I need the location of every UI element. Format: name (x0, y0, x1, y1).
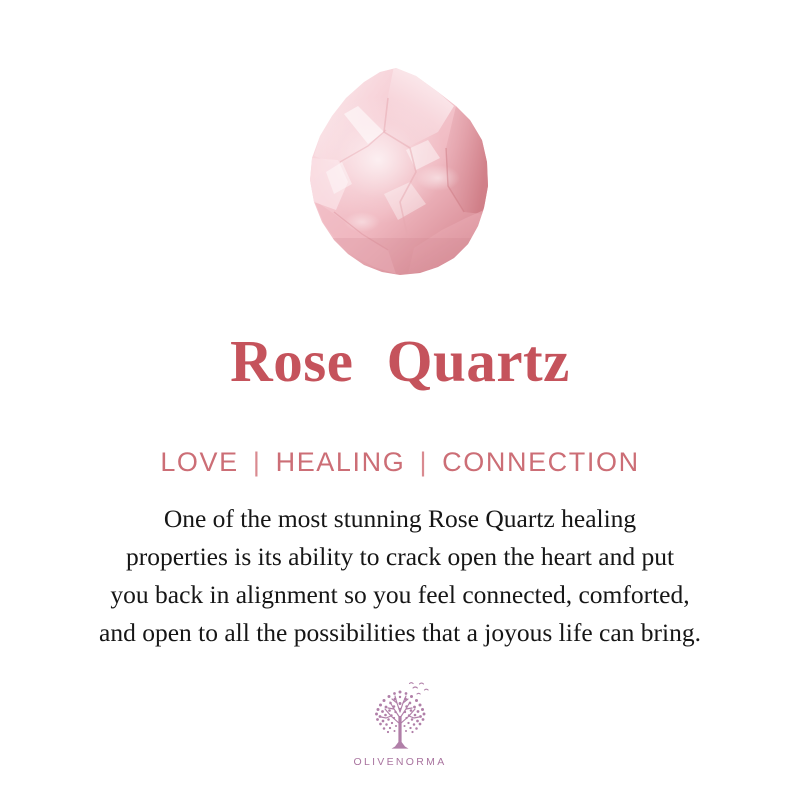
description-line: properties is its ability to crack open … (28, 538, 772, 576)
attribute-connection: CONNECTION (442, 447, 640, 477)
attribute-love: LOVE (160, 447, 238, 477)
attribute-healing: HEALING (276, 447, 406, 477)
description-line: you back in alignment so you feel connec… (28, 576, 772, 614)
brand-wordmark: OLIVENORMA (0, 756, 800, 768)
product-title: Rose Quartz (0, 332, 800, 391)
rose-quartz-info-card: Rose Quartz LOVE | HEALING | CONNECTION … (0, 0, 800, 800)
attribute-separator-1: | (248, 447, 267, 477)
logo-birds (410, 683, 429, 694)
attribute-separator-2: | (414, 447, 433, 477)
crystal-highlight-right (416, 165, 460, 191)
crystal-base-shading (308, 238, 492, 278)
product-image-area (0, 0, 800, 310)
description-line: and open to all the possibilities that a… (28, 614, 772, 652)
brand-logo: OLIVENORMA (0, 678, 800, 768)
tree-of-life-icon (361, 678, 439, 754)
crystal-highlight-bottom-left (344, 212, 380, 232)
product-description: One of the most stunning Rose Quartz hea… (28, 500, 772, 652)
description-line: One of the most stunning Rose Quartz hea… (28, 500, 772, 538)
product-attributes: LOVE | HEALING | CONNECTION (0, 447, 800, 478)
rose-quartz-crystal-image (288, 62, 512, 286)
